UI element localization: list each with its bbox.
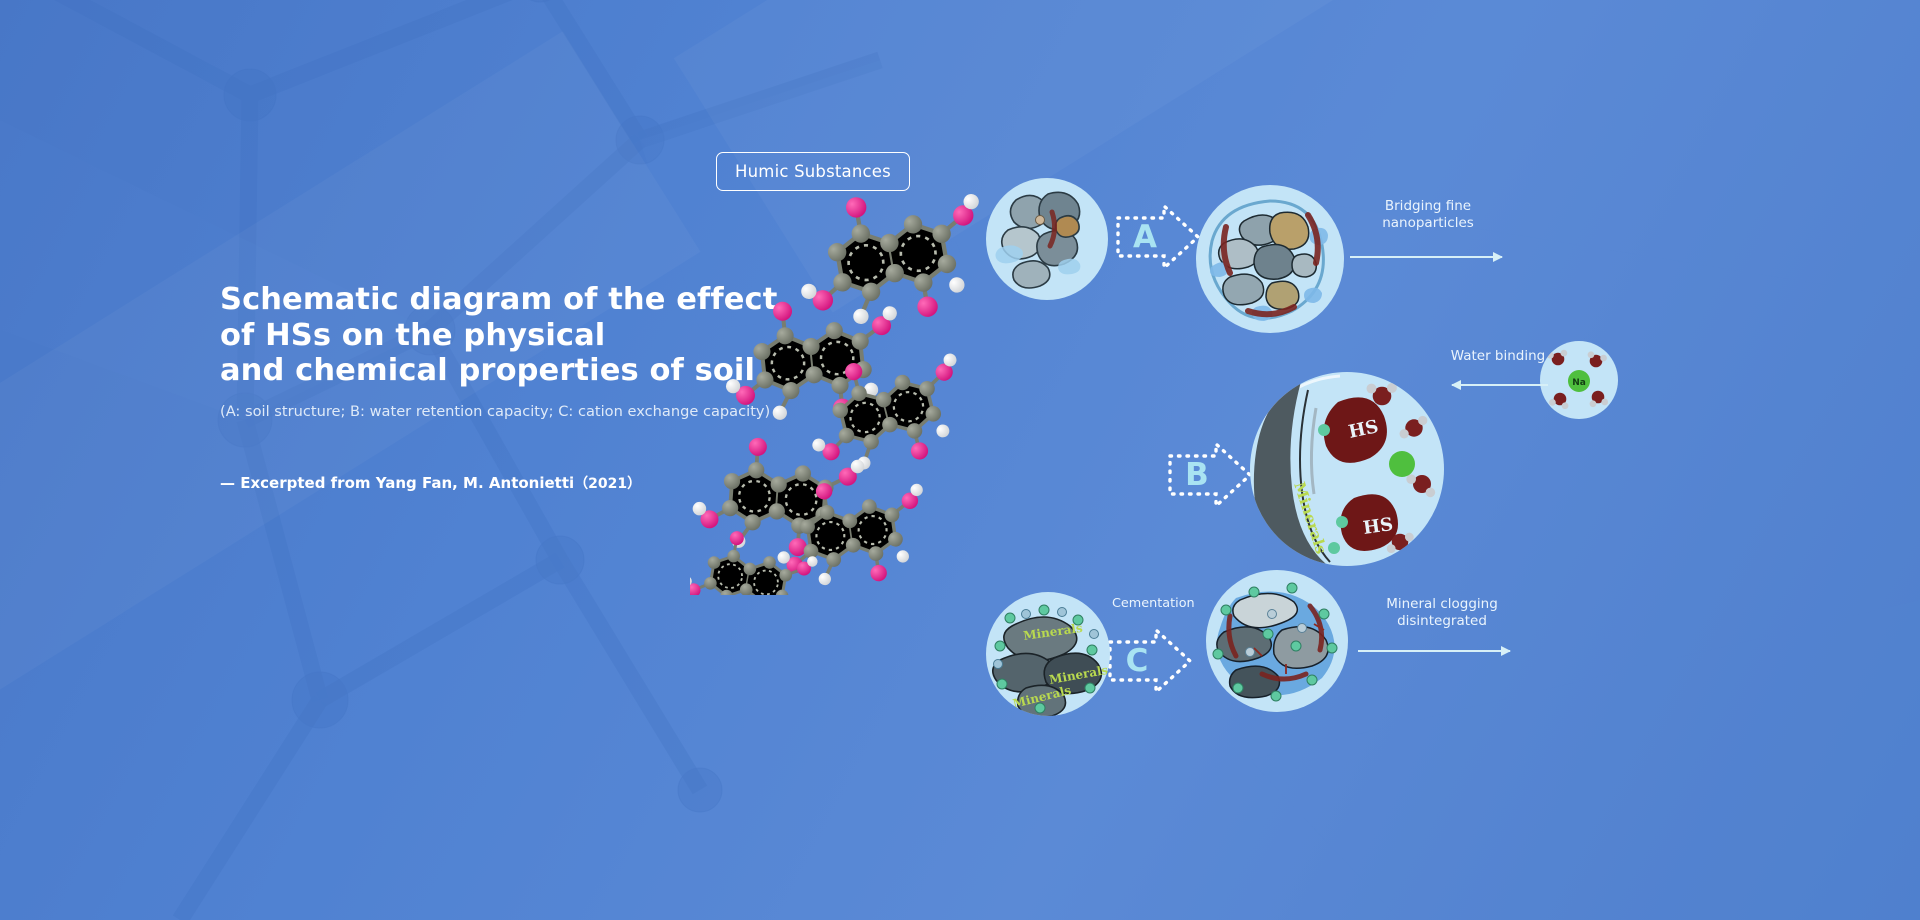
- stage-arrow-B: B: [1166, 440, 1254, 510]
- label-cation: Na: [1572, 378, 1586, 388]
- connector-arrow-A: [1350, 256, 1502, 258]
- circle-A-right: [1196, 185, 1344, 333]
- stage-arrow-C: C: [1106, 626, 1194, 696]
- connector-arrow-A-head: [1493, 252, 1503, 262]
- label-hs-2: HS: [1362, 514, 1395, 539]
- connector-arrow-B-head: [1451, 380, 1461, 390]
- caption-B: Water binding: [1428, 348, 1568, 365]
- connector-arrow-C-head: [1501, 646, 1511, 656]
- circle-C-right-illustration: [1206, 570, 1348, 712]
- infographic-canvas: Schematic diagram of the effect of HSs o…: [0, 0, 1920, 920]
- circle-B-left: HS HS Minerals: [1250, 372, 1444, 566]
- connector-arrow-C: [1358, 650, 1510, 652]
- circle-C-right: [1206, 570, 1348, 712]
- circle-A-right-illustration: [1196, 185, 1344, 333]
- caption-A: Bridging fine nanoparticles: [1348, 198, 1508, 231]
- humic-substance-molecule-model: [690, 185, 980, 595]
- caption-C-right: Mineral clogging disintegrated: [1356, 596, 1528, 629]
- circle-A-left-illustration: [986, 178, 1108, 300]
- circle-A-left: [986, 178, 1108, 300]
- stage-arrow-A: A: [1114, 202, 1202, 272]
- stage-letter-B: B: [1166, 440, 1228, 510]
- attribution-year: （2021）: [574, 476, 641, 492]
- connector-arrow-B: [1452, 384, 1548, 386]
- attribution-text: — Excerpted from Yang Fan, M. Antonietti: [220, 474, 574, 492]
- stage-letter-A: A: [1114, 202, 1176, 272]
- circle-C-left: Minerals Minerals Minerals: [986, 592, 1110, 716]
- humic-substances-label-text: Humic Substances: [735, 162, 891, 181]
- circle-C-left-illustration: Minerals Minerals Minerals: [986, 592, 1110, 716]
- stage-letter-C: C: [1106, 626, 1168, 696]
- circle-B-left-illustration: HS HS Minerals: [1250, 372, 1444, 566]
